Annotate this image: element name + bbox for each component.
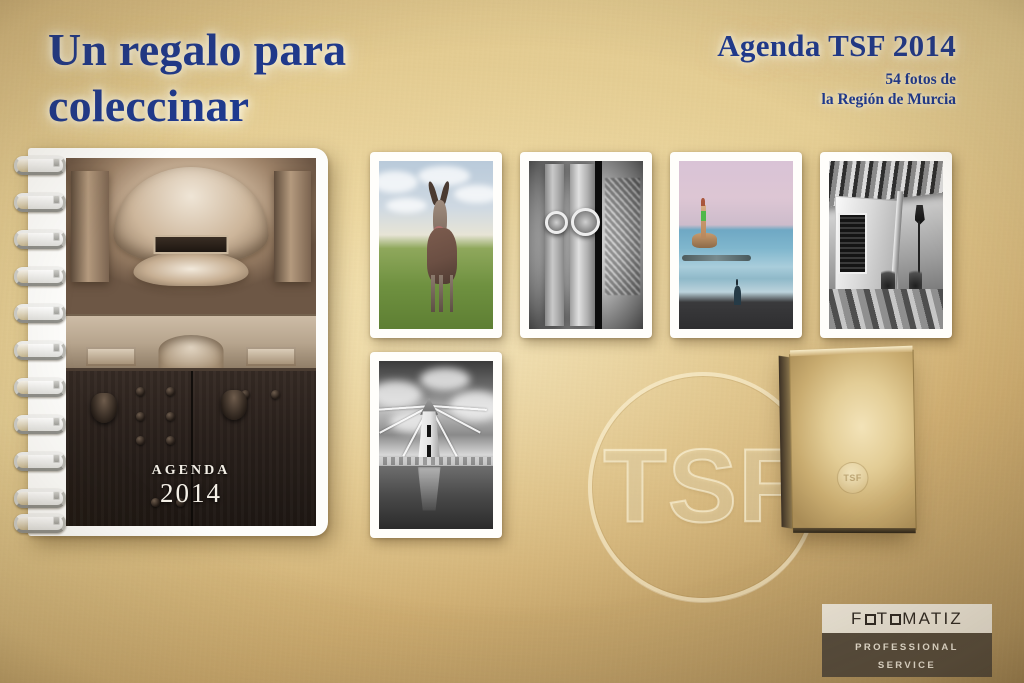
gift-box-lid [790, 346, 912, 357]
agenda-title-block: Agenda TSF 2014 54 fotos de la Región de… [717, 28, 956, 111]
facade-base [66, 314, 316, 371]
door-stud [166, 436, 175, 445]
book-cover-photo: AGENDA 2014 [66, 158, 316, 526]
thumbnail-image [379, 361, 493, 529]
cathedral-door: AGENDA 2014 [66, 368, 316, 526]
door-stud [136, 412, 145, 421]
fotomatiz-logo: FTMATIZ PROFESSIONAL SERVICE [822, 604, 992, 677]
agenda-book: AGENDA 2014 [28, 148, 328, 536]
headline-line-2: coleccinar [48, 78, 588, 134]
gift-box-emblem: TSF [837, 462, 869, 494]
beacon-top [701, 198, 705, 206]
thumbnail-sea-beacon[interactable] [670, 152, 802, 338]
thumbnail-image [679, 161, 793, 329]
poster-canvas: TSF Un regalo para coleccinar Agenda TSF… [0, 0, 1024, 683]
water-line [379, 465, 493, 466]
door-knocker-left [91, 393, 117, 423]
facade-panel-left [86, 347, 136, 366]
page-title: Un regalo para coleccinar [48, 22, 588, 134]
column-volute-main [571, 208, 600, 236]
photo-sea-beacon [679, 161, 793, 329]
beacon-tower [701, 205, 707, 239]
logo-tagline: PROFESSIONAL SERVICE [855, 642, 959, 671]
headline-line-1: Un regalo para [48, 24, 346, 75]
facade-ornament [134, 252, 249, 286]
logo-brand-bar: FTMATIZ [822, 604, 992, 633]
cover-year: 2014 [66, 478, 316, 509]
cover-label: AGENDA [66, 463, 316, 479]
logo-letters-matiz: MATIZ [902, 609, 963, 628]
facade-niche [159, 335, 224, 369]
column-rough-stone [605, 178, 639, 296]
logo-tagline-bar: PROFESSIONAL SERVICE [822, 633, 992, 677]
logo-letter-t: T [877, 609, 890, 628]
square-o-icon [890, 614, 901, 625]
terrace-window [840, 215, 865, 272]
agenda-title: Agenda TSF 2014 [717, 28, 956, 64]
door-stud [271, 390, 280, 399]
door-stud [166, 387, 175, 396]
facade-panel-right [246, 347, 296, 366]
figure-woman [734, 279, 741, 306]
facade-column-right [274, 171, 312, 282]
gift-box: TSF [789, 350, 917, 531]
sea-reef [682, 255, 750, 261]
photo-column [529, 161, 643, 329]
beacon-band [701, 211, 707, 221]
terrace-floor [829, 289, 943, 329]
thumbnail-image [829, 161, 943, 329]
thumbnail-stone-column-bw[interactable] [520, 152, 652, 338]
gift-box-bottom-edge [793, 528, 916, 533]
salt-bank [379, 457, 493, 465]
column-shaft-secondary [545, 164, 564, 325]
column-gap [595, 161, 602, 329]
agenda-subtitle: 54 fotos de la Región de Murcia [717, 70, 956, 111]
thumbnail-image [529, 161, 643, 329]
book-cover-caption: AGENDA 2014 [66, 463, 316, 509]
thumbnail-donkey-in-field[interactable] [370, 152, 502, 338]
subtitle-line-1: 54 fotos de [717, 70, 956, 90]
logo-letter-f: F [851, 609, 864, 628]
photo-donkey [379, 161, 493, 329]
door-stud [136, 387, 145, 396]
door-stud [166, 412, 175, 421]
thumbnail-image [379, 161, 493, 329]
square-o-icon [865, 614, 876, 625]
subtitle-line-2: la Región de Murcia [717, 90, 956, 110]
photo-terrace [829, 161, 943, 329]
thumbnail-windmill-bw[interactable] [370, 352, 502, 538]
logo-brand-text: FTMATIZ [851, 609, 963, 628]
thumbnail-terrace-bw[interactable] [820, 152, 952, 338]
cathedral-facade [66, 158, 316, 371]
gift-box-face: TSF [789, 350, 917, 531]
column-shaft-main [570, 164, 595, 325]
windmill-reflection [418, 467, 441, 511]
column-volute-secondary [545, 211, 568, 234]
facade-column-left [71, 171, 109, 282]
door-stud [136, 436, 145, 445]
photo-windmill [379, 361, 493, 529]
door-knocker-right [221, 390, 247, 420]
